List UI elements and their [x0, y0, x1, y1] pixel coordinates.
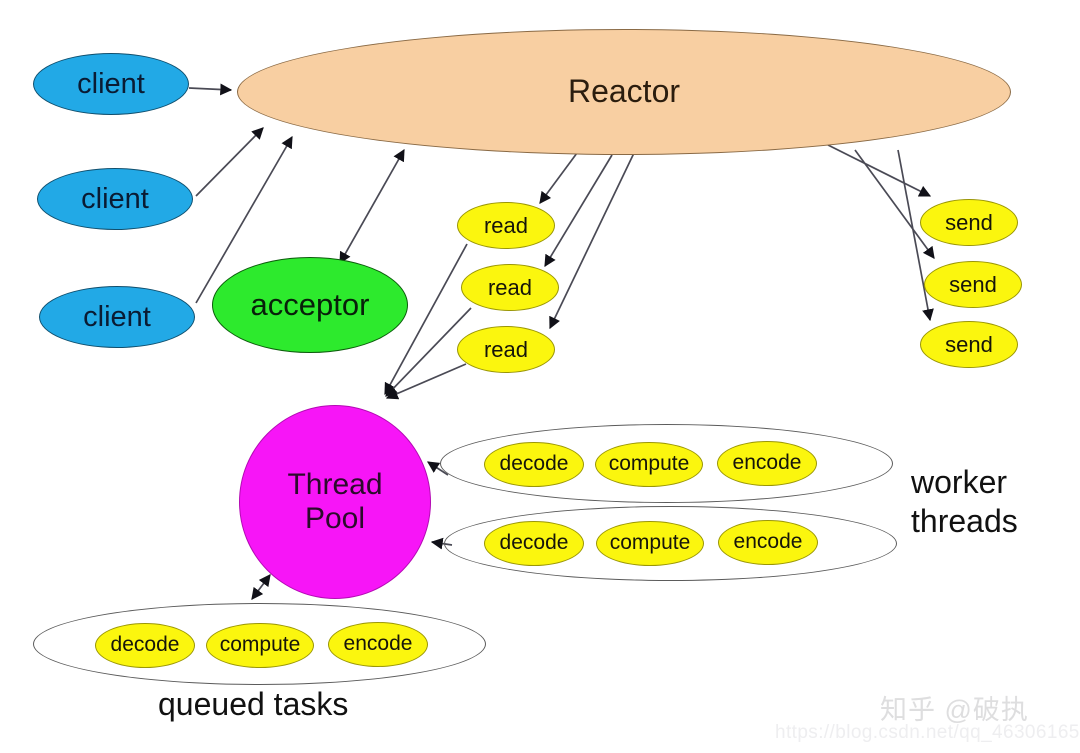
node-thread-pool[interactable]: Thread Pool	[239, 405, 431, 599]
edge-client1-reactor	[189, 88, 231, 90]
worker2-task-encode-label: encode	[734, 531, 803, 553]
queued-tasks-label-text: queued tasks	[158, 686, 348, 722]
edge-reactor-send2	[855, 150, 934, 258]
queued-task-decode[interactable]: decode	[95, 623, 195, 668]
worker2-task-decode-label: decode	[500, 532, 569, 554]
node-read-1-label: read	[484, 214, 528, 237]
node-thread-pool-label-line1: Thread	[287, 468, 382, 502]
queued-task-encode[interactable]: encode	[328, 622, 428, 667]
worker2-task-compute-label: compute	[610, 532, 691, 554]
node-send-3[interactable]: send	[920, 321, 1018, 368]
queued-task-decode-label: decode	[111, 634, 180, 656]
edge-reactor-read2	[545, 155, 612, 266]
node-client-2-label: client	[81, 184, 149, 214]
node-acceptor[interactable]: acceptor	[212, 257, 408, 353]
worker1-task-decode-label: decode	[500, 453, 569, 475]
node-send-2[interactable]: send	[924, 261, 1022, 308]
worker1-task-encode[interactable]: encode	[717, 441, 817, 486]
worker-threads-label-line2: threads	[911, 502, 1018, 541]
edge-read3-threadpool	[387, 364, 466, 398]
worker1-task-compute-label: compute	[609, 453, 690, 475]
queued-task-compute[interactable]: compute	[206, 623, 314, 668]
queued-task-encode-label: encode	[344, 633, 413, 655]
worker1-task-decode[interactable]: decode	[484, 442, 584, 487]
node-client-3-label: client	[83, 302, 151, 332]
node-send-1-label: send	[945, 211, 993, 234]
diagram-canvas: client client client Reactor acceptor re…	[0, 0, 1080, 753]
queued-tasks-label: queued tasks	[158, 685, 348, 724]
node-send-3-label: send	[945, 333, 993, 356]
worker2-task-compute[interactable]: compute	[596, 521, 704, 566]
node-read-2-label: read	[488, 276, 532, 299]
node-client-2[interactable]: client	[37, 168, 193, 230]
node-read-3-label: read	[484, 338, 528, 361]
edge-reactor-read3	[550, 153, 634, 328]
worker-threads-label-line1: worker	[911, 463, 1018, 502]
worker-threads-label: worker threads	[911, 463, 1018, 541]
node-acceptor-label: acceptor	[251, 289, 370, 322]
queued-task-compute-label: compute	[220, 634, 301, 656]
node-client-1-label: client	[77, 69, 145, 99]
worker1-task-compute[interactable]: compute	[595, 442, 703, 487]
node-read-2[interactable]: read	[461, 264, 559, 311]
node-client-3[interactable]: client	[39, 286, 195, 348]
node-client-1[interactable]: client	[33, 53, 189, 115]
node-send-1[interactable]: send	[920, 199, 1018, 246]
node-reactor[interactable]: Reactor	[237, 29, 1011, 155]
edge-reactor-send3	[898, 150, 930, 320]
worker2-task-decode[interactable]: decode	[484, 521, 584, 566]
edge-reactor-read1	[540, 153, 577, 203]
edge-acceptor-reactor	[340, 150, 404, 263]
worker2-task-encode[interactable]: encode	[718, 520, 818, 565]
edge-threadpool-queuedtasks	[252, 575, 270, 599]
csdn-url-watermark: https://blog.csdn.net/qq_46306165	[775, 722, 1080, 744]
node-send-2-label: send	[949, 273, 997, 296]
node-read-1[interactable]: read	[457, 202, 555, 249]
edge-client2-reactor	[196, 128, 263, 196]
worker1-task-encode-label: encode	[733, 452, 802, 474]
edge-reactor-send1	[828, 145, 930, 196]
node-read-3[interactable]: read	[457, 326, 555, 373]
node-reactor-label: Reactor	[568, 75, 680, 109]
node-thread-pool-label-line2: Pool	[305, 502, 365, 536]
